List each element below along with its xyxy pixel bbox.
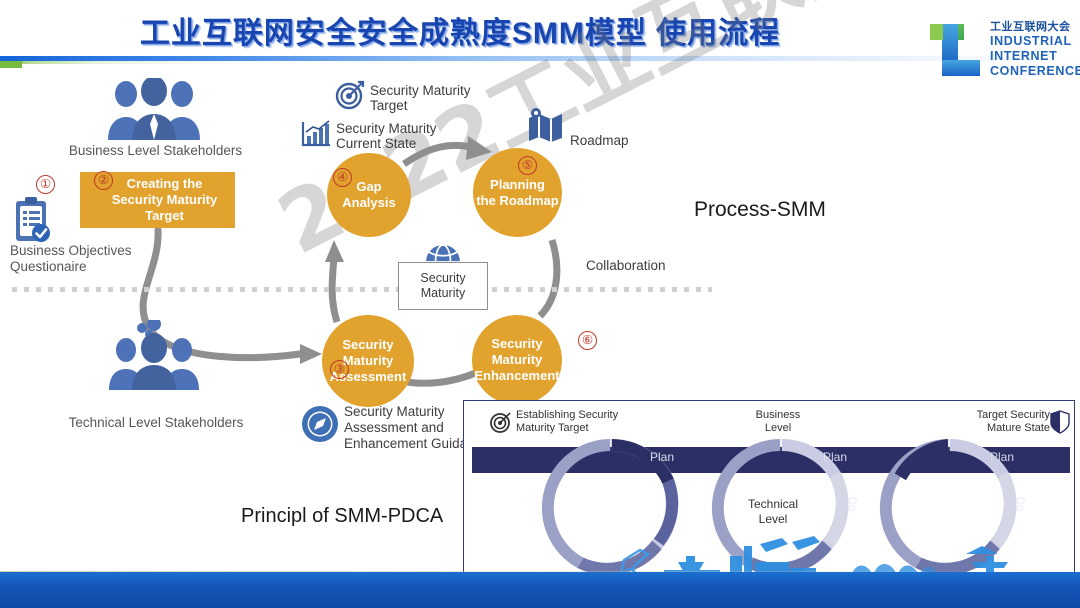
step-6-number: ⑥ [578, 331, 597, 350]
security-maturity-current-state-chart-icon [300, 120, 332, 148]
footer-band [0, 572, 1080, 608]
guidance-label-line2: Assessment and [344, 420, 444, 436]
step-1-number: ① [36, 175, 55, 194]
step-5-label: Planningthe Roadmap [476, 177, 558, 209]
cycle2-do-label: Do [846, 497, 858, 511]
security-maturity-target-label-line1: Security Maturity [370, 83, 471, 99]
business-objectives-clipboard-icon [12, 196, 52, 244]
cycle1-plan-label: Plan [650, 450, 674, 464]
business-objectives-label-line2: Questionaire [10, 259, 160, 275]
cycle3-plan-label: Plan [990, 450, 1014, 464]
security-maturity-current-state-label-line1: Security Maturity [336, 121, 437, 137]
step-4-number: ④ [333, 168, 352, 187]
step-6-security-maturity-enhancement[interactable]: Security Maturity Enhancement [472, 315, 562, 405]
step-5-planning-the-roadmap[interactable]: Planningthe Roadmap [473, 148, 562, 237]
pdca-center-circle-line2: Level [759, 512, 788, 526]
security-maturity-target-icon [335, 80, 365, 110]
pdca-center-circle-line1: Technical [748, 497, 798, 511]
roadmap-label: Roadmap [570, 133, 629, 149]
business-objectives-label-line1: Business Objectives [10, 243, 160, 259]
slide-canvas: 工业互联网安全安全成熟度SMM模型 使用流程 工业互联网大会 INDUSTRIA… [0, 0, 1080, 608]
business-stakeholders-icon [100, 78, 208, 140]
collaboration-label: Collaboration [586, 258, 666, 274]
technical-stakeholders-label: Technical Level Stakeholders [62, 415, 250, 431]
step-6-label: Security Maturity Enhancement [474, 336, 559, 384]
cycle2-plan-label: Plan [823, 450, 847, 464]
process-smm-label: Process-SMM [694, 198, 826, 222]
security-maturity-target-label-line2: Target [370, 98, 408, 114]
assessment-guidance-compass-icon [300, 404, 340, 444]
principle-smm-pdca-label: Principl of SMM-PDCA [241, 505, 443, 528]
security-maturity-center-text: SecurityMaturity [420, 271, 465, 301]
roadmap-icon [526, 108, 566, 144]
step-4-gap-analysis[interactable]: GapAnalysis [327, 153, 411, 237]
step-2-label: Creating the Security Maturity Target [112, 176, 217, 224]
enhancement-word: Enhancement [474, 368, 559, 383]
business-stakeholders-label: Business Level Stakeholders [68, 143, 243, 159]
security-maturity-center-box: SecurityMaturity [398, 262, 488, 310]
security-maturity-current-state-label-line2: Current State [336, 136, 416, 152]
technical-stakeholders-icon [100, 320, 208, 390]
step-2-number: ② [94, 171, 113, 190]
guidance-label-line1: Security Maturity [344, 404, 445, 420]
dotted-separator [12, 287, 712, 292]
cycle3-do-label: Do [1014, 497, 1026, 511]
step-5-number: ⑤ [518, 156, 537, 175]
step-4-label: GapAnalysis [342, 179, 395, 211]
cycle1-act-label: Act [539, 547, 557, 567]
step-3-number: ③ [330, 360, 349, 379]
